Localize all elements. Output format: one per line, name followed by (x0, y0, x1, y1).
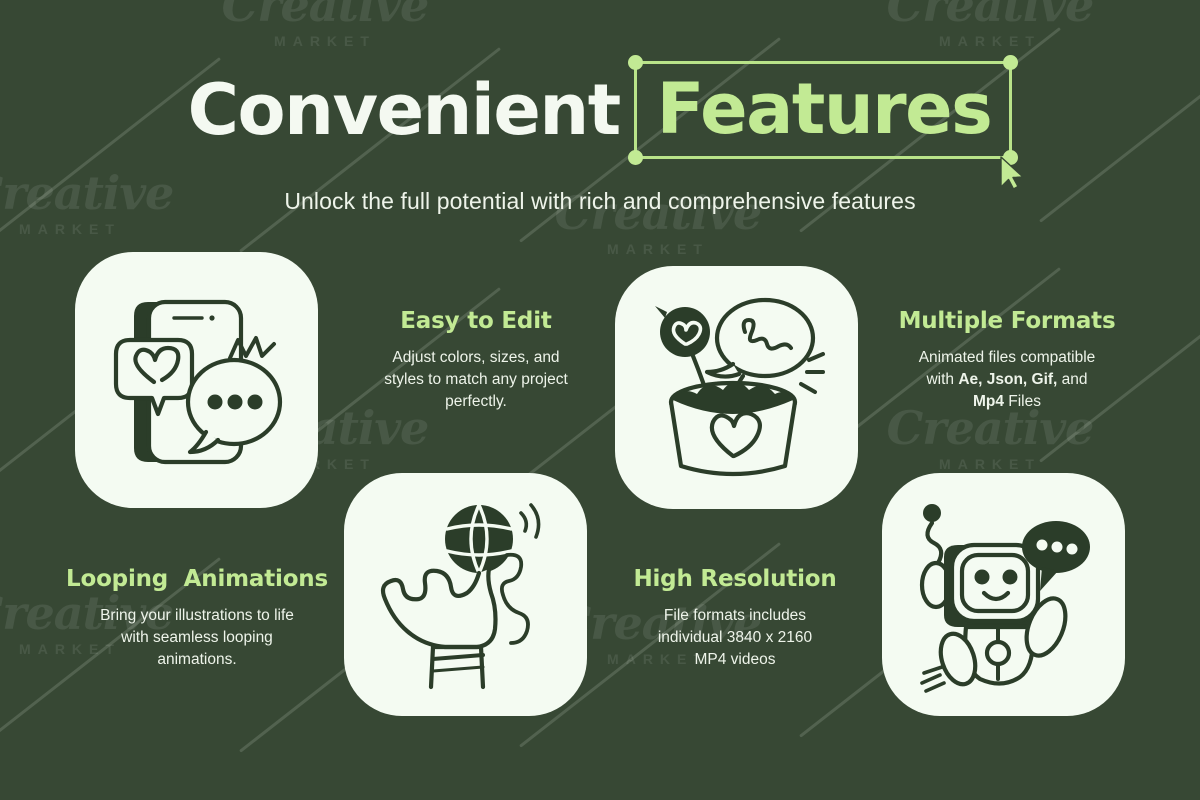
feature-title-high-resolution: High Resolution (610, 566, 860, 592)
feature-body-line: Adjust colors, sizes, and (392, 349, 559, 366)
watermark-mark: MARKET (880, 33, 1100, 49)
feature-text-multiple-formats: Multiple Formats Animated files compatib… (882, 308, 1132, 413)
watermark-script: Creative (215, 0, 435, 28)
robot-chat-icon (906, 497, 1102, 693)
feature-card-high-resolution[interactable] (615, 266, 858, 509)
selection-handle-top-left-icon[interactable] (628, 55, 643, 70)
feature-body-line: with seamless looping (121, 629, 273, 646)
feature-body-line: Mp4 Files (973, 393, 1041, 410)
feature-body-line: perfectly. (445, 393, 507, 410)
feature-body-line: with Ae, Json, Gif, and (926, 371, 1087, 388)
selection-handle-top-right-icon[interactable] (1003, 55, 1018, 70)
watermark-badge: Creative MARKET (880, 0, 1100, 49)
feature-body-bold: Mp4 (973, 393, 1004, 410)
title-selection-box[interactable]: Features (634, 61, 1013, 159)
feature-body-line: MP4 videos (695, 651, 776, 668)
feature-body-line: Bring your illustrations to life (100, 607, 294, 624)
selection-handle-bottom-left-icon[interactable] (628, 150, 643, 165)
feature-body-line: animations. (157, 651, 236, 668)
feature-body-line: File formats includes (664, 607, 806, 624)
watermark-badge: Creative MARKET (215, 0, 435, 49)
feature-body-line: styles to match any project (384, 371, 568, 388)
feature-text-looping-animations: Looping Animations Bring your illustrati… (62, 566, 332, 671)
feature-body-looping-animations: Bring your illustrations to life with se… (62, 605, 332, 671)
feature-text-easy-to-edit: Easy to Edit Adjust colors, sizes, and s… (348, 308, 604, 413)
watermark-mark: MARKET (548, 241, 768, 257)
basket-speech-flowers-icon (641, 290, 833, 486)
feature-body-line: individual 3840 x 2160 (658, 629, 812, 646)
feature-body-line: Animated files compatible (919, 349, 1096, 366)
feature-card-easy-to-edit[interactable] (344, 473, 587, 716)
watermark-mark: MARKET (0, 221, 180, 237)
phone-chat-bubbles-icon (102, 280, 292, 480)
poster-canvas: Creative MARKET Creative MARKET Creative… (0, 0, 1200, 800)
feature-body-high-resolution: File formats includes individual 3840 x … (610, 605, 860, 671)
feature-title-easy-to-edit: Easy to Edit (348, 308, 604, 334)
page-title: Convenient Features (0, 58, 1200, 162)
title-accent-word: Features (657, 74, 992, 144)
feature-text-high-resolution: High Resolution File formats includes in… (610, 566, 860, 671)
feature-card-looping-animations[interactable] (75, 252, 318, 508)
feature-body-easy-to-edit: Adjust colors, sizes, and styles to matc… (348, 347, 604, 413)
watermark-mark: MARKET (215, 33, 435, 49)
watermark-script: Creative (880, 0, 1100, 28)
feature-title-looping-animations: Looping Animations (62, 566, 332, 592)
feature-body-multiple-formats: Animated files compatible with Ae, Json,… (882, 347, 1132, 413)
mouse-cursor-icon (999, 156, 1025, 190)
watermark-badge: Creative MARKET (880, 405, 1100, 472)
feature-title-multiple-formats: Multiple Formats (882, 308, 1132, 334)
hand-yarn-globe-icon (371, 497, 561, 692)
feature-card-multiple-formats[interactable] (882, 473, 1125, 716)
page-subtitle: Unlock the full potential with rich and … (0, 188, 1200, 215)
watermark-mark: MARKET (880, 456, 1100, 472)
page-header: Convenient Features Unlock the full pote… (0, 58, 1200, 215)
title-plain-word: Convenient (188, 75, 620, 145)
feature-body-bold: Ae, Json, Gif, (958, 371, 1057, 388)
